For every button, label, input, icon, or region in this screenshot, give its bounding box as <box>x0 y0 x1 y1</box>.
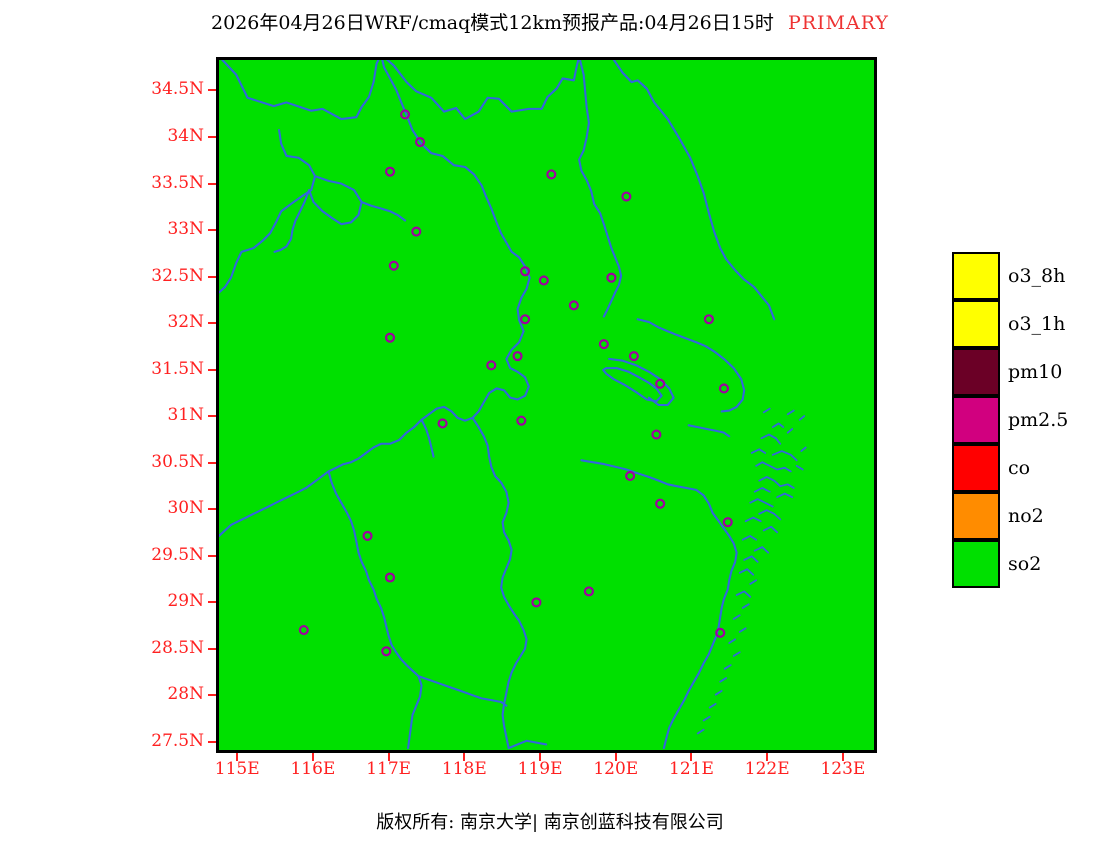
legend-label: so2 <box>1008 553 1041 575</box>
x-axis-tick-mark <box>539 753 541 761</box>
legend-label: pm2.5 <box>1008 409 1068 431</box>
y-axis-tick-mark <box>208 741 216 743</box>
map-boundary-line <box>509 741 546 748</box>
station-marker[interactable] <box>600 340 608 348</box>
map-boundary-line <box>419 676 507 705</box>
station-marker[interactable] <box>412 228 420 236</box>
island-outline <box>704 717 710 721</box>
y-axis-tick-mark <box>208 694 216 696</box>
map-boundary-line <box>219 60 381 119</box>
y-axis-tick-mark <box>208 601 216 603</box>
y-axis-tick-mark <box>208 229 216 231</box>
map-boundary-line <box>611 60 774 319</box>
y-axis-tick-mark <box>208 276 216 278</box>
island-outline <box>773 451 797 460</box>
x-axis-tick-label: 120E <box>576 759 656 779</box>
y-axis-tick-mark <box>208 322 216 324</box>
y-axis-tick-mark <box>208 136 216 138</box>
pollutant-legend: o3_8ho3_1hpm10pm2.5cono2so2 <box>952 252 1000 588</box>
y-axis-tick-label: 31.5N <box>120 359 204 379</box>
legend-row[interactable]: o3_8h <box>952 252 1000 300</box>
island-outline <box>716 691 722 695</box>
station-marker[interactable] <box>705 315 713 323</box>
island-outline <box>755 488 770 492</box>
island-outline <box>756 462 791 471</box>
y-axis-tick-mark <box>208 648 216 650</box>
y-axis-tick-mark <box>208 89 216 91</box>
y-axis-tick-mark <box>208 555 216 557</box>
legend-row[interactable]: o3_1h <box>952 300 1000 348</box>
map-canvas <box>219 60 874 750</box>
island-outline <box>750 499 772 506</box>
y-axis-tick-label: 34N <box>120 126 204 146</box>
x-axis-tick-label: 122E <box>727 759 807 779</box>
station-marker[interactable] <box>547 170 555 178</box>
x-axis-tick-label: 117E <box>349 759 429 779</box>
y-axis-tick-label: 28N <box>120 684 204 704</box>
x-axis-tick-mark <box>615 753 617 761</box>
page-title: 2026年04月26日WRF/cmaq模式12km预报产品:04月26日15时P… <box>0 10 1100 36</box>
coastline-layer <box>219 60 806 748</box>
station-marker[interactable] <box>626 472 634 480</box>
map-boundary-line <box>362 202 406 220</box>
island-outline <box>737 591 751 596</box>
legend-color-swatch <box>952 252 1000 300</box>
station-marker[interactable] <box>521 315 529 323</box>
legend-label: no2 <box>1008 505 1044 527</box>
legend-color-swatch <box>952 444 1000 492</box>
legend-label: co <box>1008 457 1030 479</box>
legend-color-swatch <box>952 300 1000 348</box>
forecast-map-page: 2026年04月26日WRF/cmaq模式12km预报产品:04月26日15时P… <box>0 0 1100 850</box>
station-marker[interactable] <box>585 587 593 595</box>
x-axis-tick-label: 123E <box>803 759 883 779</box>
island-outline <box>746 518 761 522</box>
x-axis-tick-mark <box>842 753 844 761</box>
island-outline <box>752 449 765 453</box>
map-boundary-line <box>638 319 745 411</box>
y-axis-tick-mark <box>208 508 216 510</box>
station-marker[interactable] <box>540 277 548 285</box>
island-outline <box>698 730 704 734</box>
y-axis-tick-label: 28.5N <box>120 638 204 658</box>
map-boundary-line <box>274 190 309 252</box>
island-outline <box>725 665 731 669</box>
x-axis-tick-label: 115E <box>197 759 277 779</box>
station-marker[interactable] <box>514 352 522 360</box>
island-outline <box>755 547 768 553</box>
island-outline <box>744 556 757 562</box>
legend-label: o3_8h <box>1008 265 1065 287</box>
copyright-footer: 版权所有: 南京大学| 南京创蓝科技有限公司 <box>0 808 1100 834</box>
station-marker[interactable] <box>386 168 394 176</box>
island-outline <box>788 429 793 433</box>
island-outline <box>750 580 756 584</box>
station-marker[interactable] <box>532 598 540 606</box>
island-outline <box>764 527 777 533</box>
map-boundary-line <box>219 420 422 536</box>
y-axis-tick-label: 33.5N <box>120 173 204 193</box>
x-axis-tick-label: 119E <box>500 759 580 779</box>
legend-color-swatch <box>952 540 1000 588</box>
island-outline <box>788 411 794 415</box>
map-boundary-line <box>381 60 579 119</box>
island-outline <box>743 536 756 540</box>
station-marker[interactable] <box>570 301 578 309</box>
station-marker[interactable] <box>300 626 308 634</box>
island-outline <box>734 615 740 619</box>
map-plot-area[interactable] <box>216 57 877 753</box>
x-axis-tick-label: 118E <box>424 759 504 779</box>
station-marker[interactable] <box>382 647 390 655</box>
station-marker[interactable] <box>607 274 615 282</box>
legend-row[interactable]: co <box>952 444 1000 492</box>
station-marker[interactable] <box>652 431 660 439</box>
island-outline <box>777 494 792 498</box>
station-marker[interactable] <box>439 419 447 427</box>
island-outline <box>743 604 749 608</box>
x-axis-tick-mark <box>766 753 768 761</box>
island-outline <box>740 569 753 575</box>
x-axis-tick-mark <box>312 753 314 761</box>
station-marker[interactable] <box>656 500 664 508</box>
map-boundary-line <box>309 176 362 224</box>
y-axis-tick-mark <box>208 369 216 371</box>
legend-row[interactable]: pm10 <box>952 348 1000 396</box>
island-outline <box>797 466 803 470</box>
station-marker[interactable] <box>720 384 728 392</box>
station-marker[interactable] <box>630 352 638 360</box>
island-outline <box>710 704 716 708</box>
title-primary-label: PRIMARY <box>788 12 889 34</box>
y-axis-tick-mark <box>208 415 216 417</box>
x-axis-tick-label: 121E <box>651 759 731 779</box>
map-boundary-line <box>328 471 421 748</box>
map-boundary-line <box>689 425 730 436</box>
station-marker[interactable] <box>656 380 664 388</box>
island-outline <box>801 447 805 451</box>
y-axis-tick-label: 30.5N <box>120 452 204 472</box>
station-marker[interactable] <box>724 518 732 526</box>
legend-row[interactable]: no2 <box>952 492 1000 540</box>
legend-color-swatch <box>952 492 1000 540</box>
y-axis-tick-label: 32.5N <box>120 266 204 286</box>
station-marker[interactable] <box>364 532 372 540</box>
y-axis-tick-label: 30N <box>120 498 204 518</box>
map-boundary-line <box>603 368 661 401</box>
island-outline <box>729 639 735 643</box>
legend-color-swatch <box>952 348 1000 396</box>
station-marker-layer <box>300 110 732 655</box>
island-outline <box>734 652 740 656</box>
station-marker[interactable] <box>390 262 398 270</box>
y-axis-tick-mark <box>208 183 216 185</box>
island-outline <box>761 435 780 444</box>
y-axis-tick-mark <box>208 462 216 464</box>
y-axis-tick-label: 29.5N <box>120 545 204 565</box>
island-outline <box>740 628 746 632</box>
legend-row[interactable]: so2 <box>952 540 1000 588</box>
legend-color-swatch <box>952 396 1000 444</box>
title-main-text: 2026年04月26日WRF/cmaq模式12km预报产品:04月26日15时 <box>211 12 774 34</box>
x-axis-tick-mark <box>463 753 465 761</box>
y-axis-tick-label: 27.5N <box>120 731 204 751</box>
x-axis-tick-mark <box>388 753 390 761</box>
legend-label: pm10 <box>1008 361 1062 383</box>
station-marker[interactable] <box>622 193 630 201</box>
y-axis-tick-label: 31N <box>120 405 204 425</box>
island-outline <box>759 510 780 519</box>
x-axis-tick-mark <box>690 753 692 761</box>
y-axis-tick-label: 34.5N <box>120 79 204 99</box>
station-marker[interactable] <box>386 334 394 342</box>
island-outline <box>800 416 805 420</box>
x-axis-tick-mark <box>236 753 238 761</box>
y-axis-tick-label: 29N <box>120 591 204 611</box>
x-axis-tick-label: 116E <box>273 759 353 779</box>
map-boundary-line <box>405 112 530 421</box>
y-axis-tick-label: 32N <box>120 312 204 332</box>
map-boundary-line <box>381 60 405 112</box>
legend-row[interactable]: pm2.5 <box>952 396 1000 444</box>
station-marker[interactable] <box>386 574 394 582</box>
station-marker[interactable] <box>517 417 525 425</box>
map-boundary-line <box>422 420 434 457</box>
island-outline <box>759 477 793 488</box>
legend-label: o3_1h <box>1008 313 1065 335</box>
island-outline <box>720 678 726 682</box>
station-marker[interactable] <box>487 361 495 369</box>
y-axis-tick-label: 33N <box>120 219 204 239</box>
island-outline <box>764 409 770 413</box>
island-outline <box>773 423 784 427</box>
